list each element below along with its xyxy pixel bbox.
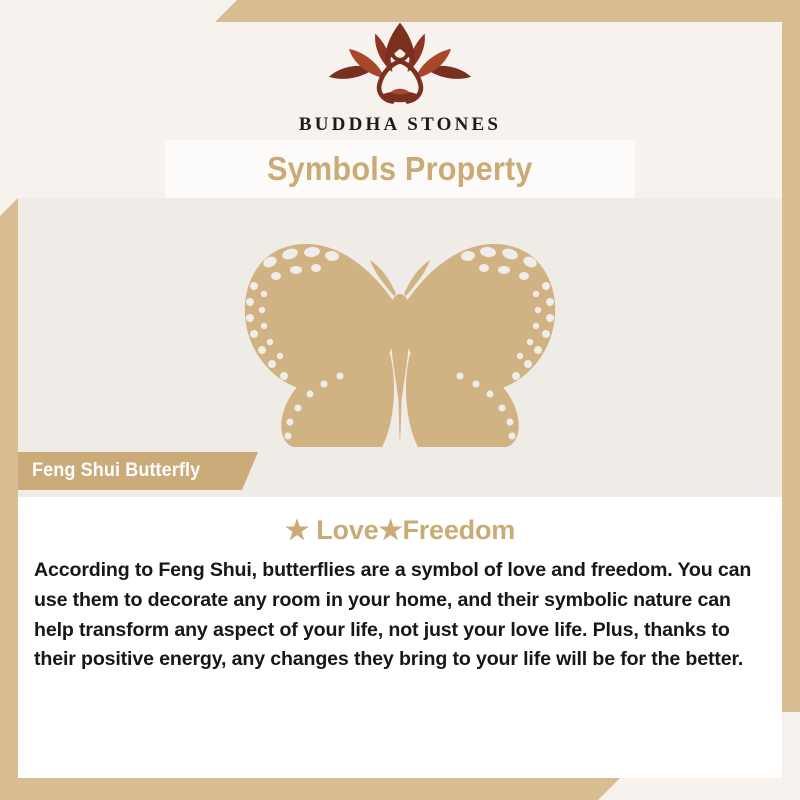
butterfly-icon (218, 232, 582, 447)
poster-root: BUDDHA STONES Symbols Property (0, 0, 800, 800)
butterfly-illustration (218, 232, 582, 447)
frame-band-left (0, 198, 18, 800)
section-ribbon: Feng Shui Butterfly (18, 452, 258, 490)
ribbon-label: Feng Shui Butterfly (32, 460, 200, 482)
title-banner: Symbols Property (165, 140, 635, 198)
content-heading: ★ Love★Freedom (30, 515, 770, 546)
brand-name: BUDDHA STONES (299, 114, 501, 136)
page-title: Symbols Property (267, 150, 533, 188)
frame-band-bottom (0, 778, 620, 800)
brand-logo: BUDDHA STONES (0, 18, 800, 136)
content-body: According to Feng Shui, butterflies are … (30, 556, 770, 675)
lotus-meditation-icon (315, 18, 485, 110)
content-panel: ★ Love★Freedom According to Feng Shui, b… (18, 497, 782, 778)
